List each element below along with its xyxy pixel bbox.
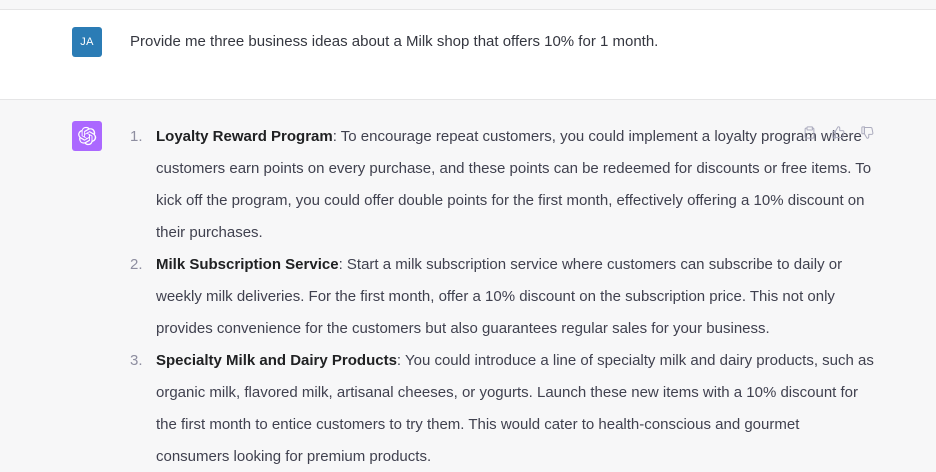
copy-icon[interactable] xyxy=(801,124,818,141)
message-actions xyxy=(801,124,876,141)
idea-title: Milk Subscription Service xyxy=(156,256,339,273)
avatar xyxy=(72,121,102,151)
thumbs-up-icon[interactable] xyxy=(830,124,847,141)
idea-title: Loyalty Reward Program xyxy=(156,128,333,145)
avatar: JA xyxy=(72,27,102,57)
user-message-row: JA Provide me three business ideas about… xyxy=(0,10,936,100)
assistant-message-inner: Loyalty Reward Program: To encourage rep… xyxy=(0,100,936,472)
list-item: Loyalty Reward Program: To encourage rep… xyxy=(130,121,876,249)
user-message-body: Provide me three business ideas about a … xyxy=(130,27,876,57)
chat-thread: JA Provide me three business ideas about… xyxy=(0,0,936,472)
user-message-text: Provide me three business ideas about a … xyxy=(130,27,876,53)
previous-message-sliver xyxy=(0,0,936,10)
idea-title: Specialty Milk and Dairy Products xyxy=(156,352,397,369)
list-item: Specialty Milk and Dairy Products: You c… xyxy=(130,345,876,472)
list-item: Milk Subscription Service: Start a milk … xyxy=(130,249,876,345)
user-message-inner: JA Provide me three business ideas about… xyxy=(0,10,936,57)
business-ideas-list: Loyalty Reward Program: To encourage rep… xyxy=(130,121,876,472)
thumbs-down-icon[interactable] xyxy=(859,124,876,141)
avatar-initials: JA xyxy=(80,36,93,48)
assistant-message-row: Loyalty Reward Program: To encourage rep… xyxy=(0,100,936,472)
assistant-message-body: Loyalty Reward Program: To encourage rep… xyxy=(130,121,876,472)
openai-logo-icon xyxy=(77,126,97,146)
